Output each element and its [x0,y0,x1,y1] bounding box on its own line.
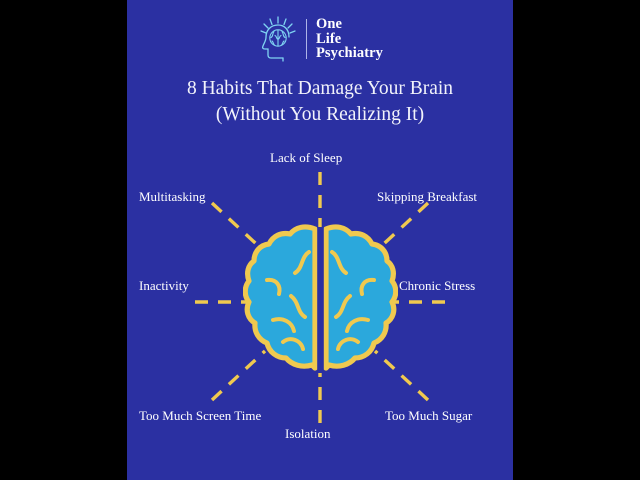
page-title-line-2: (Without You Realizing It) [127,102,513,128]
page-title-line-1: 8 Habits That Damage Your Brain [127,76,513,102]
head-with-brain-icon [257,15,301,63]
logo-line-2: Life [316,32,383,47]
brand-logo: One Life Psychiatry [127,12,513,66]
logo-line-1: One [316,17,383,32]
logo-line-3: Psychiatry [316,46,383,61]
screenshot-stage: One Life Psychiatry 8 Habits That Damage… [0,0,640,480]
logo-wordmark: One Life Psychiatry [316,17,383,61]
habit-label-inactivity: Inactivity [139,279,189,292]
habit-label-too-much-sugar: Too Much Sugar [385,409,472,422]
habit-label-isolation: Isolation [285,427,331,440]
habits-radial-diagram: Lack of Sleep Multitasking Skipping Brea… [127,140,513,450]
habit-label-multitasking: Multitasking [139,190,205,203]
habit-label-lack-of-sleep: Lack of Sleep [270,151,342,164]
habit-label-chronic-stress: Chronic Stress [399,279,475,292]
brain-top-view-icon [243,224,398,372]
habit-label-too-much-screen-time: Too Much Screen Time [139,409,261,422]
poster-canvas: One Life Psychiatry 8 Habits That Damage… [127,0,513,480]
habit-label-skipping-breakfast: Skipping Breakfast [377,190,477,203]
page-title: 8 Habits That Damage Your Brain (Without… [127,76,513,128]
logo-divider [306,19,307,59]
